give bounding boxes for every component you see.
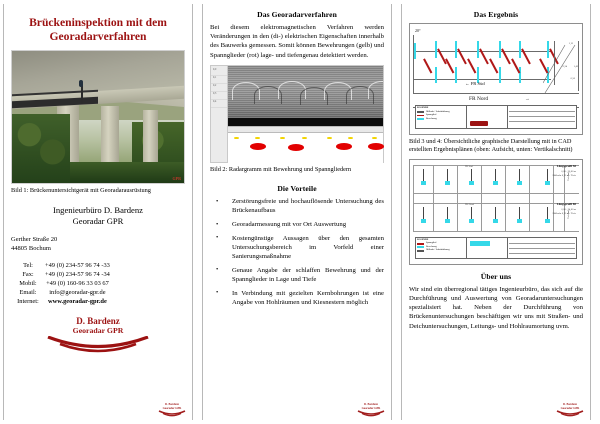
address-street: Gerther Straße 20 (11, 236, 185, 245)
cad-legend-title: LEGENDE (417, 107, 465, 110)
list-item: Genaue Angabe der schlaffen Bewehrung un… (210, 266, 384, 284)
heading-method: Das Georadarverfahren (210, 10, 384, 19)
contact-rows: Tel: +49 (0) 234-57 96 74 -33 Fax: +49 (… (11, 262, 110, 307)
legend-swatch-bewehrung-icon (417, 246, 424, 248)
rebar-marker (255, 137, 260, 139)
photo-watermark: GPR (173, 176, 181, 181)
watermark-arcs-icon (556, 410, 584, 417)
panel-method: Das Georadarverfahren Bei diesem elektro… (202, 4, 392, 420)
rebar-marker (372, 137, 377, 139)
heading-result: Das Ergebnis (409, 10, 583, 19)
legend-item: Spannglied (417, 242, 465, 245)
heading-benefits: Die Vorteile (210, 184, 384, 193)
list-item: Georadarmessung mit vor Ort Auswertung (210, 220, 384, 229)
company-name-line2: Georadar GPR (11, 216, 185, 227)
tendon-marker (288, 144, 304, 151)
cad-thumbnail-swatch (470, 121, 488, 126)
address-city: 44805 Bochum (11, 245, 185, 254)
company-logo: D. Bardenz Georadar GPR (42, 316, 154, 356)
legend-label: Hüllrohr / Schnittführung (426, 249, 449, 252)
contact-label-mobil: Mobil: (11, 280, 45, 289)
panel-watermark-logo: D. Bardenz Georadar GPR (555, 403, 585, 417)
legend-swatch-huellrohr-icon (417, 111, 424, 113)
cad-plan-figure: 20° (409, 23, 583, 135)
rebar-marker (327, 137, 332, 139)
method-text: Bei diesem elektromagnetischen Verfahren… (210, 23, 384, 60)
contact-value-fax: +49 (0) 234-57 96 74 -34 (45, 271, 110, 280)
section-row1-top-label: FR Süd (465, 165, 473, 168)
contact-label-fax: Fax: (11, 271, 45, 280)
radargram-interpretation (228, 133, 383, 164)
contact-table: Tel: +49 (0) 234-57 96 74 -33 Fax: +49 (… (11, 262, 110, 307)
section-row1-sub2: Hüllrohr 0,35 m - Tiefe (553, 174, 576, 177)
legend-label: Bewehrung (426, 118, 437, 121)
benefits-list: Zerstörungsfreie und hochauflösende Unte… (210, 197, 384, 307)
panel-watermark-logo: D. Bardenz Georadar GPR (157, 403, 187, 417)
cad-legend-title: LEGENDE (417, 239, 465, 242)
contact-value-tel: +49 (0) 234-57 96 74 -33 (45, 262, 110, 271)
company-name-line1: Ingenieurbüro D. Bardenz (11, 205, 185, 216)
legend-item: Hüllrohr / Schnittführung (417, 249, 465, 252)
photo-trees-left (12, 114, 70, 183)
rebar-marker (280, 137, 285, 139)
section-row1-label: Längsprofil 50 (557, 165, 576, 169)
cad-corner-angle: 20° (415, 28, 421, 33)
heading-about: Über uns (409, 272, 583, 281)
about-text: Wir sind ein überregional tätiges Ingeni… (409, 285, 583, 331)
rebar-marker (348, 137, 353, 139)
cad-plan-metadata (508, 106, 576, 128)
cad-section-metadata (508, 238, 576, 258)
tendon-marker (250, 143, 266, 150)
company-block: Ingenieurbüro D. Bardenz Georadar GPR Ge… (11, 205, 185, 307)
section-row2-top-label: FR Nord (465, 203, 474, 206)
bridge-photo: GPR (11, 50, 185, 184)
depth-tick-3: 0,3 (211, 92, 227, 100)
direction-label-south: ← FR Süd (465, 81, 485, 86)
panel-watermark-logo: D. Bardenz Georadar GPR (356, 403, 386, 417)
tendon-marker (368, 143, 384, 150)
panel-cover: Brückeninspektion mit dem Georadarverfah… (3, 4, 193, 420)
tendon-marker (336, 143, 352, 150)
depth-tick-1: 0,1 (211, 76, 227, 84)
list-item: In Verbindung mit gezielten Kernbohrunge… (210, 289, 384, 307)
cad-section-titleblock: LEGENDE Spannglied Bewehrung Hüllrohr / … (415, 237, 577, 259)
radargram-depth-axis: 0,0 0,1 0,2 0,3 0,4 (211, 66, 228, 162)
figure-caption-3: Bild 3 und 4: Übersichtliche graphische … (409, 138, 583, 155)
depth-tick-4: 0,4 (211, 100, 227, 108)
legend-swatch-spannglied-icon (417, 115, 424, 117)
radargram-figure: 0,0 0,1 0,2 0,3 0,4 (210, 65, 384, 163)
rebar-marker (302, 137, 307, 139)
brochure-container: Brückeninspektion mit dem Georadarverfah… (0, 0, 600, 424)
depth-tick-0: 0,0 (211, 68, 227, 76)
legend-swatch-spannglied-icon (417, 243, 424, 245)
contact-row-tel: Tel: +49 (0) 234-57 96 74 -33 (11, 262, 110, 271)
page-title: Brückeninspektion mit dem Georadarverfah… (11, 16, 185, 44)
radargram-main (228, 66, 383, 162)
company-address: Gerther Straße 20 44805 Bochum (11, 236, 185, 253)
radargram-greyscale (228, 66, 383, 118)
watermark-arcs-icon (158, 410, 186, 417)
watermark-arcs-icon (357, 410, 385, 417)
cad-section-figure: FR Süd FR Nord Längsprofil 50 0,00 - 20,… (409, 159, 583, 265)
legend-swatch-bewehrung-icon (417, 118, 424, 120)
cad-section-thumbnail (467, 238, 508, 258)
direction-label-north: FR Nord (469, 96, 488, 102)
rebar-marker (234, 137, 239, 139)
contact-value-email[interactable]: info@georadar-gpr.de (45, 289, 110, 298)
contact-row-internet[interactable]: Internet: www.georadar-gpr.de (11, 298, 110, 307)
cad-plan-inner: 20° (413, 27, 579, 131)
legend-label: Hüllrohr / Schnittführung (426, 111, 449, 114)
contact-row-email[interactable]: Email: info@georadar-gpr.de (11, 289, 110, 298)
contact-label-internet: Internet: (11, 298, 45, 307)
contact-value-mobil: +49 (0) 160-96 33 03 67 (45, 280, 110, 289)
legend-item: Spannglied (417, 114, 465, 117)
list-item: Zerstörungsfreie und hochauflösende Unte… (210, 197, 384, 215)
contact-label-email: Email: (11, 289, 45, 298)
cad-leader-lines-icon (543, 43, 577, 95)
contact-value-internet[interactable]: www.georadar-gpr.de (45, 298, 110, 307)
radargram-baseline (228, 118, 383, 127)
figure-caption-2: Bild 2: Radargramm mit Bewehrung und Spa… (210, 166, 384, 174)
contact-row-fax: Fax: +49 (0) 234-57 96 74 -34 (11, 271, 110, 280)
contact-label-tel: Tel: (11, 262, 45, 271)
panel-results: Das Ergebnis 20° (401, 4, 591, 420)
figure-caption-1: Bild 1: Brückenuntersichtgerät mit Geora… (11, 187, 185, 195)
logo-line1: D. Bardenz (42, 316, 154, 326)
legend-label: Spannglied (426, 114, 436, 117)
list-item: Kostengünstige Aussagen über den gesamte… (210, 234, 384, 262)
cad-plan-thumbnail (467, 106, 508, 128)
legend-item: Hüllrohr / Schnittführung (417, 111, 465, 114)
contact-row-mobil: Mobil: +49 (0) 160-96 33 03 67 (11, 280, 110, 289)
depth-tick-2: 0,2 (211, 84, 227, 92)
section-row2-sub2: Hüllrohr 0,35 m - Tiefe (553, 212, 576, 215)
logo-line2: Georadar GPR (42, 326, 154, 335)
legend-swatch-huellrohr-icon (417, 250, 424, 252)
legend-item: Bewehrung (417, 118, 465, 121)
direction-arrow-north: → (525, 96, 530, 101)
cad-plan-titleblock: LEGENDE Hüllrohr / Schnittführung Spanng… (415, 105, 577, 129)
cad-section-legend: LEGENDE Spannglied Bewehrung Hüllrohr / … (416, 238, 467, 258)
cad-section-inner: FR Süd FR Nord Längsprofil 50 0,00 - 20,… (413, 163, 579, 261)
legend-label: Spannglied (426, 242, 436, 245)
logo-arcs-icon (46, 336, 150, 356)
section-row2-label: Längsprofil 80 (557, 203, 576, 207)
radargram-distance-axis (228, 126, 383, 133)
cad-plan-legend: LEGENDE Hüllrohr / Schnittführung Spanng… (416, 106, 467, 128)
